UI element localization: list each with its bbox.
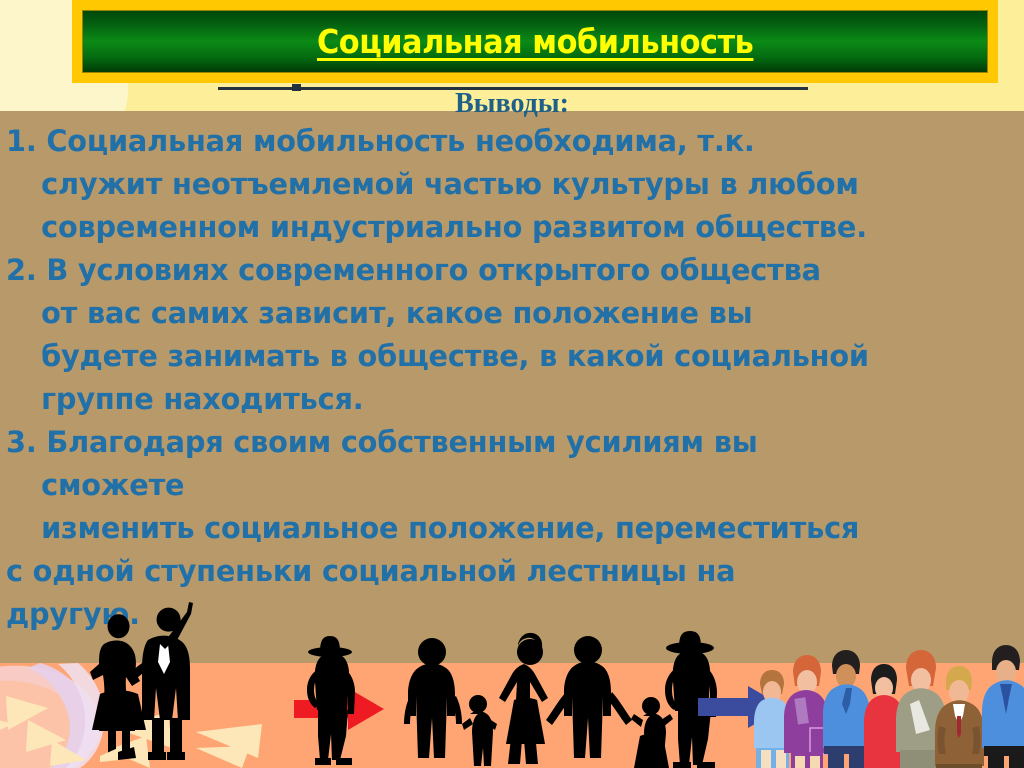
body-line: изменить социальное положение, перемести…	[6, 507, 996, 550]
page-title: Социальная мобильность	[317, 22, 753, 61]
list-item: 1. Социальная мобильность необходима, т.…	[6, 120, 1021, 249]
body-line: будете занимать в обществе, в какой соци…	[6, 335, 996, 378]
list-item: 2. В условиях современного открытого общ…	[6, 249, 1021, 421]
body-line: группе находиться.	[6, 378, 996, 421]
body-line: современном индустриально развитом общес…	[6, 206, 996, 249]
body-line: от вас самих зависит, какое положение вы	[6, 292, 996, 335]
body-line: с одной ступеньки социальной лестницы на	[6, 550, 996, 593]
title-box-inner: Социальная мобильность	[82, 10, 988, 73]
title-box: Социальная мобильность	[72, 0, 998, 83]
slide-canvas: Социальная мобильность Выводы: 1. Социал…	[0, 0, 1024, 768]
body-line: 2. В условиях современного открытого общ…	[6, 249, 996, 292]
body-text-block: 1. Социальная мобильность необходима, т.…	[6, 120, 1021, 636]
body-line: 3. Благодаря своим собственным усилиям в…	[6, 421, 996, 464]
body-line: 1. Социальная мобильность необходима, т.…	[6, 120, 996, 163]
list-item: 3. Благодаря своим собственным усилиям в…	[6, 421, 1021, 636]
body-line: другую.	[6, 593, 996, 636]
illustration-band	[0, 663, 1024, 768]
body-line: служит неотъемлемой частью культуры в лю…	[6, 163, 996, 206]
body-line: сможете	[6, 464, 996, 507]
subtitle: Выводы:	[0, 88, 1024, 120]
